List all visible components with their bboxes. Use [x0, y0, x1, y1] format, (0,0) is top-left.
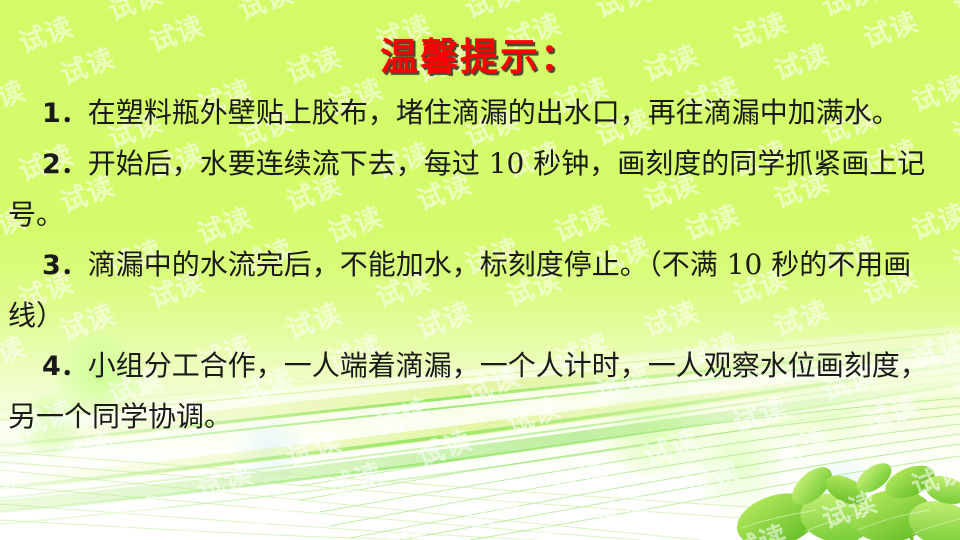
- slide-content: 温馨提示： 1．在塑料瓶外壁贴上胶布，堵住滴漏的出水口，再往滴漏中加满水。 2．…: [0, 0, 960, 540]
- list-item-number: 1．: [42, 98, 88, 129]
- page-title: 温馨提示：: [0, 26, 960, 81]
- list-item: 2．开始后，水要连续流下去，每过 10 秒钟，画刻度的同学抓紧画上记号。: [8, 139, 952, 240]
- list-item-text: 在塑料瓶外壁贴上胶布，堵住滴漏的出水口，再往滴漏中加满水。: [88, 96, 900, 129]
- list-item-number: 3．: [42, 250, 88, 281]
- list-item-text: 开始后，水要连续流下去，每过 10 秒钟，画刻度的同学抓紧画上记号。: [8, 147, 925, 231]
- list-item-text: 滴漏中的水流完后，不能加水，标刻度停止。（不满 10 秒的不用画线）: [8, 248, 911, 332]
- slide-canvas: 试读试读试读试读试读试读试读试读试读试读试读试读试读试读试读试读试读试读 试读试…: [0, 0, 960, 540]
- list-item-number: 2．: [42, 149, 88, 180]
- list-item-number: 4．: [42, 351, 88, 382]
- list-item-text: 小组分工合作，一人端着滴漏，一个人计时，一人观察水位画刻度，另一个同学协调。: [8, 349, 928, 433]
- list-item: 1．在塑料瓶外壁贴上胶布，堵住滴漏的出水口，再往滴漏中加满水。: [8, 88, 952, 139]
- list-item: 4．小组分工合作，一人端着滴漏，一个人计时，一人观察水位画刻度，另一个同学协调。: [8, 341, 952, 442]
- instruction-list: 1．在塑料瓶外壁贴上胶布，堵住滴漏的出水口，再往滴漏中加满水。 2．开始后，水要…: [8, 88, 952, 442]
- list-item: 3．滴漏中的水流完后，不能加水，标刻度停止。（不满 10 秒的不用画线）: [8, 240, 952, 341]
